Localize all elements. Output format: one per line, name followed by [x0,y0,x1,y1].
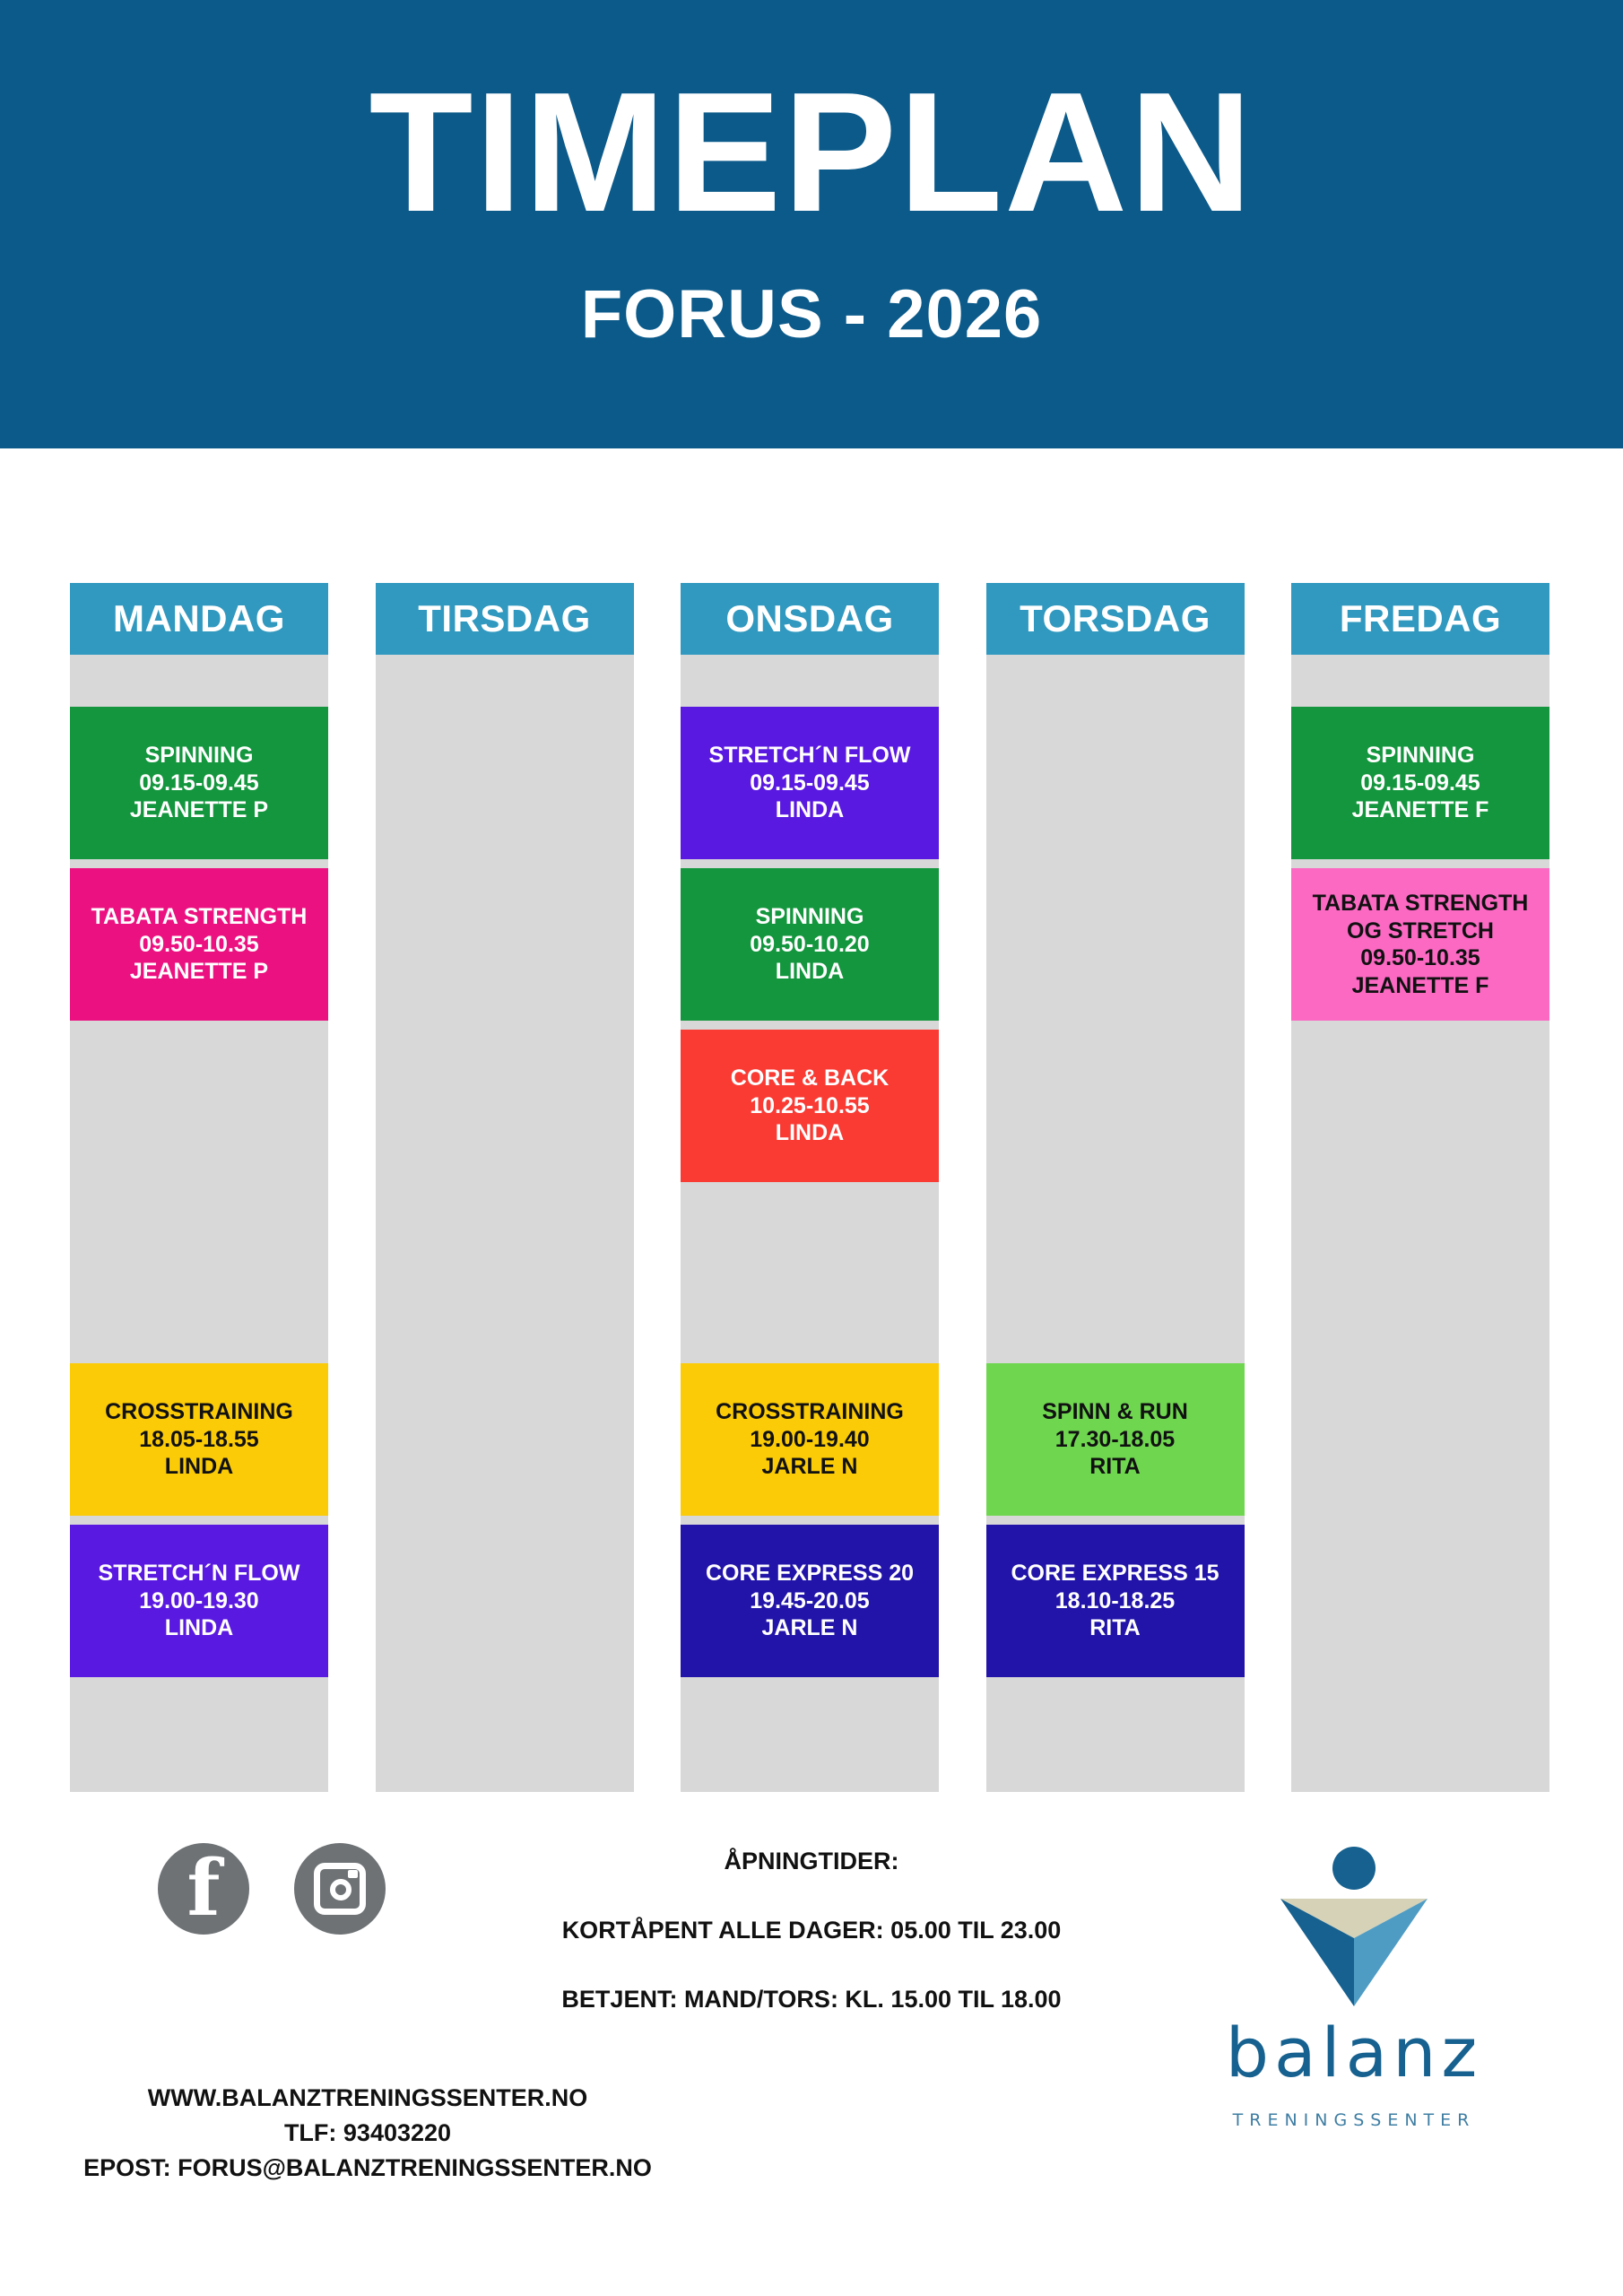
class-instructor: JARLE N [762,1453,858,1481]
class-time: 09.15-09.45 [1360,770,1480,797]
class-time: 09.50-10.20 [750,931,869,959]
schedule-grid: MANDAGSPINNING09.15-09.45JEANETTE PTABAT… [70,583,1549,1792]
class-block[interactable]: STRETCH´N FLOW09.15-09.45LINDA [681,707,939,859]
class-time: 18.05-18.55 [139,1426,258,1454]
class-instructor: LINDA [165,1453,233,1481]
day-column-fredag: FREDAGSPINNING09.15-09.45JEANETTE FTABAT… [1291,583,1549,1792]
class-block[interactable]: CROSSTRAINING19.00-19.40JARLE N [681,1363,939,1516]
class-instructor: RITA [1089,1453,1140,1481]
social-links: f [158,1843,386,1935]
contact-info: WWW.BALANZTRENINGSSENTER.NO TLF: 9340322… [27,2081,708,2186]
day-column-torsdag: TORSDAGSPINN & RUN17.30-18.05RITACORE EX… [986,583,1245,1792]
class-name: SPINNING [756,903,864,931]
day-header-tirsdag[interactable]: TIRSDAG [376,583,634,655]
class-instructor: LINDA [165,1614,233,1642]
class-name: STRETCH´N FLOW [99,1560,300,1587]
class-block[interactable]: CORE EXPRESS 1518.10-18.25RITA [986,1525,1245,1677]
balanz-logo: balanz TRENINGSSENTER [1193,1843,1515,2130]
opening-hours: ÅPNINGTIDER: KORTÅPENT ALLE DAGER: 05.00… [484,1848,1139,2055]
day-column-tirsdag: TIRSDAG [376,583,634,1792]
class-time: 17.30-18.05 [1055,1426,1175,1454]
opening-hours-line-1: KORTÅPENT ALLE DAGER: 05.00 TIL 23.00 [484,1917,1139,1944]
class-name: TABATA STRENGTH [1313,890,1529,918]
opening-hours-title: ÅPNINGTIDER: [484,1848,1139,1875]
class-time: 18.10-18.25 [1055,1587,1175,1615]
class-name: CORE & BACK [731,1065,889,1092]
class-name-line-2: OG STRETCH [1347,918,1494,945]
day-track: SPINN & RUN17.30-18.05RITACORE EXPRESS 1… [986,655,1245,1792]
opening-hours-line-2: BETJENT: MAND/TORS: KL. 15.00 TIL 18.00 [484,1986,1139,2013]
class-instructor: RITA [1089,1614,1140,1642]
class-instructor: LINDA [776,796,844,824]
day-header-mandag[interactable]: MANDAG [70,583,328,655]
page-subtitle: FORUS - 2026 [581,281,1043,349]
class-block[interactable]: SPINNING09.15-09.45JEANETTE P [70,707,328,859]
day-header-torsdag[interactable]: TORSDAG [986,583,1245,655]
class-name: TABATA STRENGTH [91,903,308,931]
class-block[interactable]: STRETCH´N FLOW19.00-19.30LINDA [70,1525,328,1677]
class-name: SPINNING [1367,742,1475,770]
class-time: 10.25-10.55 [750,1092,869,1120]
day-column-mandag: MANDAGSPINNING09.15-09.45JEANETTE PTABAT… [70,583,328,1792]
contact-phone: TLF: 93403220 [27,2116,708,2151]
class-instructor: JEANETTE P [130,796,268,824]
class-instructor: JEANETTE F [1352,796,1489,824]
day-track [376,655,634,1792]
class-block[interactable]: SPINNING09.50-10.20LINDA [681,868,939,1021]
header-banner: TIMEPLAN FORUS - 2026 [0,0,1623,448]
logo-head-circle-icon [1332,1847,1376,1890]
day-header-onsdag[interactable]: ONSDAG [681,583,939,655]
class-instructor: JEANETTE P [130,958,268,986]
class-name: CROSSTRAINING [716,1398,904,1426]
class-instructor: JEANETTE F [1352,972,1489,1000]
class-block[interactable]: SPINNING09.15-09.45JEANETTE F [1291,707,1549,859]
class-block[interactable]: CORE EXPRESS 2019.45-20.05JARLE N [681,1525,939,1677]
class-name: CORE EXPRESS 20 [706,1560,914,1587]
class-block[interactable]: TABATA STRENGTH09.50-10.35JEANETTE P [70,868,328,1021]
contact-website[interactable]: WWW.BALANZTRENINGSSENTER.NO [27,2081,708,2116]
class-time: 09.50-10.35 [1360,944,1480,972]
class-name: SPINN & RUN [1042,1398,1188,1426]
class-time: 19.00-19.40 [750,1426,869,1454]
class-time: 09.15-09.45 [750,770,869,797]
logo-triangle-icon [1280,1899,1428,2006]
class-block[interactable]: SPINN & RUN17.30-18.05RITA [986,1363,1245,1516]
class-name: SPINNING [145,742,254,770]
class-time: 09.50-10.35 [139,931,258,959]
class-instructor: LINDA [776,958,844,986]
day-track: STRETCH´N FLOW09.15-09.45LINDASPINNING09… [681,655,939,1792]
logo-tagline: TRENINGSSENTER [1193,2110,1515,2130]
class-time: 19.45-20.05 [750,1587,869,1615]
class-time: 09.15-09.45 [139,770,258,797]
logo-wordmark: balanz [1193,2019,1515,2087]
class-block[interactable]: CORE & BACK10.25-10.55LINDA [681,1030,939,1182]
day-track: SPINNING09.15-09.45JEANETTE FTABATA STRE… [1291,655,1549,1792]
instagram-icon[interactable] [294,1843,386,1935]
timeplan-poster: TIMEPLAN FORUS - 2026 MANDAGSPINNING09.1… [0,0,1623,2296]
class-name: CORE EXPRESS 15 [1011,1560,1219,1587]
day-track: SPINNING09.15-09.45JEANETTE PTABATA STRE… [70,655,328,1792]
logo-mark-icon [1264,1843,1444,2022]
contact-email[interactable]: EPOST: FORUS@BALANZTRENINGSSENTER.NO [27,2151,708,2186]
class-block[interactable]: CROSSTRAINING18.05-18.55LINDA [70,1363,328,1516]
page-title: TIMEPLAN [369,67,1254,238]
class-instructor: LINDA [776,1119,844,1147]
class-block[interactable]: TABATA STRENGTHOG STRETCH09.50-10.35JEAN… [1291,868,1549,1021]
class-instructor: JARLE N [762,1614,858,1642]
facebook-icon[interactable]: f [158,1843,249,1935]
day-column-onsdag: ONSDAGSTRETCH´N FLOW09.15-09.45LINDASPIN… [681,583,939,1792]
class-name: CROSSTRAINING [105,1398,293,1426]
class-name: STRETCH´N FLOW [709,742,911,770]
day-header-fredag[interactable]: FREDAG [1291,583,1549,655]
class-time: 19.00-19.30 [139,1587,258,1615]
